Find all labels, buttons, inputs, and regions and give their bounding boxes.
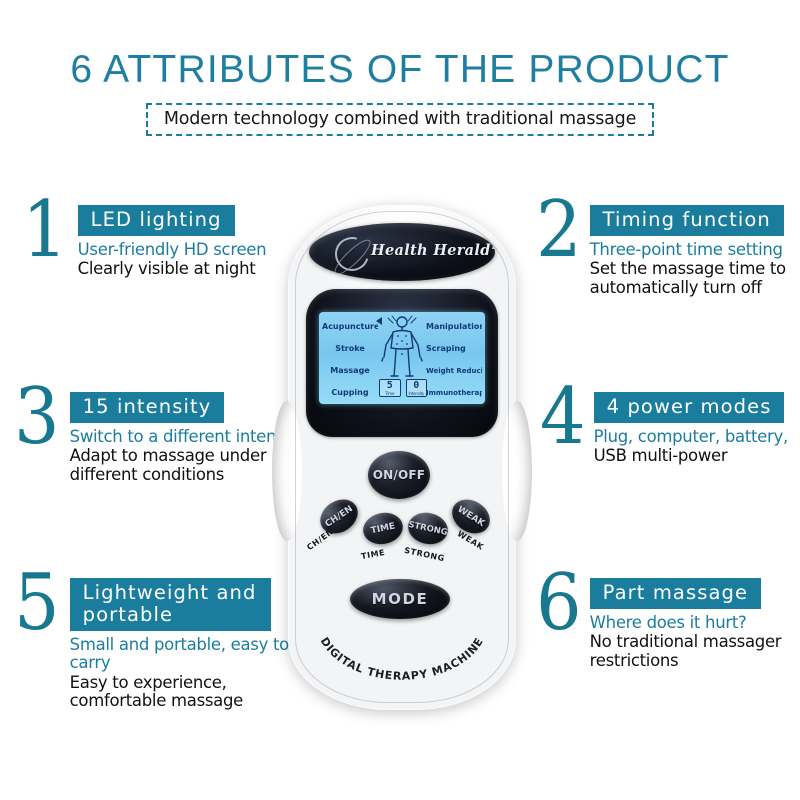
feature-item-5: 5 Lightweight and portable Small and por… (14, 578, 300, 711)
feature-body-1: LED lighting User-friendly HD screen Cle… (78, 205, 290, 279)
feature-subtext-1: User-friendly HD screen (78, 241, 290, 259)
feature-body-4: 4 power modes Plug, computer, battery, U… (594, 392, 798, 466)
feature-body-6: Part massage Where does it hurt? No trad… (590, 578, 798, 671)
lcd-body-figure-icon (380, 314, 424, 380)
device-screen-bezel: Acupuncture Stroke Massage Cupping (306, 289, 498, 437)
lcd-mode-massage[interactable]: Massage (322, 360, 378, 382)
lcd-intensity-box[interactable]: 0 Intensity (406, 379, 428, 397)
feature-heading-3: 15 intensity (70, 392, 225, 423)
feature-item-2: 2 Timing function Three-point time setti… (536, 205, 798, 298)
feature-description-5: Easy to experience, comfortable massage (70, 674, 300, 712)
feature-subtext-2: Three-point time setting (590, 241, 798, 259)
feature-heading-4: 4 power modes (594, 392, 785, 423)
feature-description-4: USB multi-power (594, 447, 798, 466)
device-top-panel: Health HeraldTM (309, 223, 495, 281)
device-waist-right (502, 401, 532, 541)
feature-number-4: 4 (540, 386, 586, 450)
feature-heading-6: Part massage (590, 578, 761, 609)
feature-item-6: 6 Part massage Where does it hurt? No tr… (536, 578, 798, 671)
page-title: 6 ATTRIBUTES OF THE PRODUCT (0, 0, 800, 92)
lcd-intensity-value: 0 (407, 380, 427, 391)
feature-number-2: 2 (536, 199, 582, 263)
mode-button[interactable]: MODE (350, 579, 450, 619)
lcd-value-boxes: 5 Time 0 Intensity (379, 379, 427, 397)
feature-body-2: Timing function Three-point time setting… (590, 205, 798, 298)
lcd-mode-stroke[interactable]: Stroke (322, 338, 378, 360)
feature-description-6: No traditional massager restrictions (590, 633, 798, 671)
lcd-mode-weight-reducing[interactable]: Weight Reducing (426, 360, 482, 382)
feature-number-3: 3 (14, 386, 60, 450)
subtitle-banner: Modern technology combined with traditio… (146, 103, 654, 136)
feature-item-1: 1 LED lighting User-friendly HD screen C… (22, 205, 290, 279)
feature-subtext-6: Where does it hurt? (590, 614, 798, 632)
lcd-mode-acupuncture[interactable]: Acupuncture (322, 316, 378, 338)
brand-name-text: Health Herald (371, 242, 491, 259)
feature-subtext-5: Small and portable, easy to carry (70, 636, 300, 673)
feature-description-2: Set the massage time to automatically tu… (590, 260, 798, 298)
feature-number-5: 5 (14, 572, 60, 636)
brand-swirl-icon (329, 231, 375, 277)
feature-description-1: Clearly visible at night (78, 260, 290, 279)
feature-subtext-4: Plug, computer, battery, (594, 428, 798, 446)
device-waist-left (272, 401, 302, 541)
feature-item-3: 3 15 intensity Switch to a different int… (14, 392, 314, 485)
power-button[interactable]: ON/OFF (368, 451, 430, 499)
device-lcd-screen[interactable]: Acupuncture Stroke Massage Cupping (319, 312, 485, 404)
feature-item-4: 4 4 power modes Plug, computer, battery,… (540, 392, 798, 466)
lcd-time-label: Time (380, 391, 400, 396)
lcd-intensity-label: Intensity (407, 391, 427, 396)
product-device-image: Health HeraldTM Acupuncture Stroke Massa… (288, 205, 516, 710)
lcd-mode-manipulation[interactable]: Manipulation (426, 316, 482, 338)
lcd-mode-cupping[interactable]: Cupping (322, 382, 378, 404)
header: 6 ATTRIBUTES OF THE PRODUCT Modern techn… (0, 0, 800, 136)
lcd-time-box[interactable]: 5 Time (379, 379, 401, 397)
feature-number-6: 6 (536, 572, 582, 636)
lcd-mode-immunotherapy[interactable]: Immunotherapy (426, 382, 482, 404)
feature-number-1: 1 (22, 199, 68, 263)
lcd-time-value: 5 (380, 380, 400, 391)
lcd-right-mode-column: Manipulation Scraping Weight Reducing Im… (426, 316, 482, 404)
lcd-left-mode-column: Acupuncture Stroke Massage Cupping (322, 316, 378, 404)
feature-heading-1: LED lighting (78, 205, 235, 236)
feature-heading-5: Lightweight and portable (70, 578, 271, 631)
brand-trademark: TM (491, 242, 495, 251)
feature-body-5: Lightweight and portable Small and porta… (70, 578, 300, 711)
brand-name: Health HeraldTM (371, 242, 495, 259)
feature-heading-2: Timing function (590, 205, 784, 236)
lcd-mode-scraping[interactable]: Scraping (426, 338, 482, 360)
